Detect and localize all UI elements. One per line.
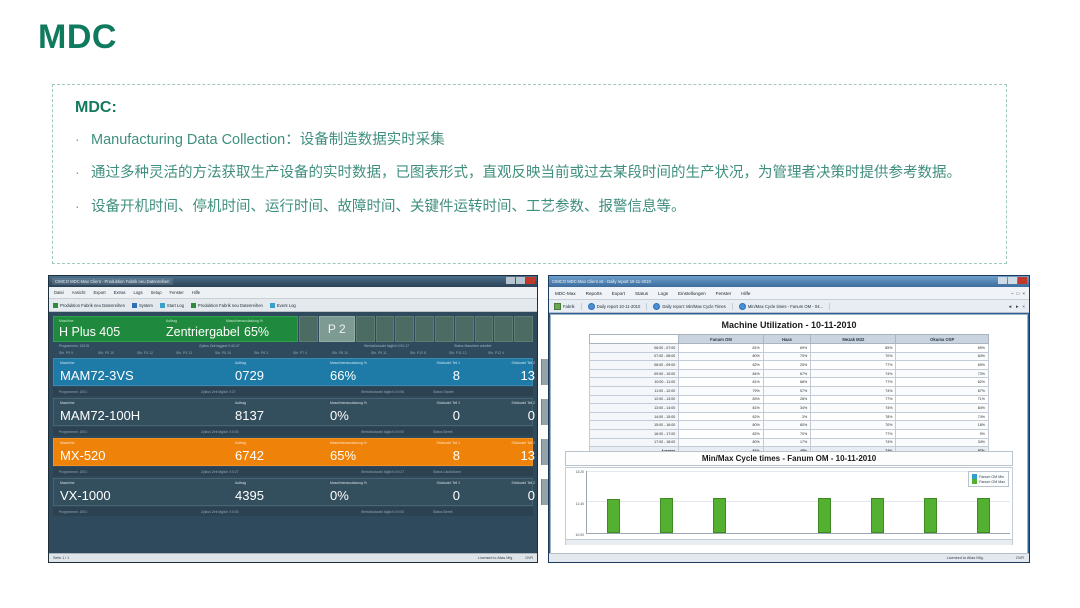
bar-series (587, 471, 1010, 533)
table-cell: 69% (763, 344, 811, 353)
caption-part1: Stückzahl Teil 1 (437, 481, 461, 485)
table-cell: 84% (896, 352, 989, 361)
tick-label-row: Sth. P9 9 Sth. P0 10 Sth. P3 12 Sth. P4 … (53, 349, 533, 356)
bar (660, 498, 673, 533)
info-pieces: Werkstückzahl täglich 0:0:00 (361, 510, 433, 514)
info-program: Programmnr. 1001 (59, 470, 201, 474)
table-cell: 9% (896, 429, 989, 438)
value-utilization: 0% (330, 489, 349, 502)
tick-label: Sth. P12 4 (488, 351, 527, 355)
left-window-controls[interactable] (506, 277, 535, 284)
blue-square-icon (132, 303, 137, 308)
value-machine: MX-520 (60, 449, 106, 462)
status-cell (514, 316, 533, 342)
table-row: 10:00 - 11:0081%68%77%82% (590, 378, 989, 387)
status-left: Seite 1 / 1 (53, 556, 69, 560)
chart-title: Min/Max Cycle times - Fanum OM - 10-11-2… (565, 451, 1013, 466)
menu-item-export[interactable]: Export (94, 290, 106, 295)
left-menubar[interactable]: Datei Ansicht Export Extras Logs Setup F… (49, 287, 537, 299)
bullet-item: · 通过多种灵活的方法获取生产设备的实时数据，已图表形式，直观反映当前或过去某段… (75, 162, 986, 184)
menu-item-setup[interactable]: Setup (151, 290, 162, 295)
mdi-window-controls[interactable]: – □ × (1011, 291, 1025, 296)
tab-label: Daily report 10-11-2010 (597, 304, 641, 309)
bar-slot (904, 471, 957, 533)
tab-label: Daily report: Min/Max Cycle Times (662, 304, 726, 309)
table-cell: 85% (811, 344, 896, 353)
table-cell: 34% (896, 438, 989, 447)
caption-part1: Stückzahl Teil 1 (437, 401, 461, 405)
tick-label: Sth. P10 8 (410, 351, 449, 355)
table-cell: 82% (679, 412, 763, 421)
row-time-label: 06:00 - 07:00 (590, 344, 679, 353)
y-tick: 13:20 (576, 470, 585, 474)
right-window-titlebar: CIMCO MDC-Max Client x6 - Daily report 1… (549, 276, 1029, 287)
caption-util: Maschinenauslastung % (226, 319, 263, 323)
menu-item-extras[interactable]: Extras (114, 290, 126, 295)
cell-utilization: Maschinenauslastung % 66% (324, 359, 454, 385)
machine-info-row: Programmnr. 1001 Zyklus Zeit täglich 0:0… (53, 467, 533, 476)
cell-part1: Stückzahl Teil 1 8 (454, 439, 466, 465)
bar (818, 498, 831, 533)
status-cell (376, 316, 395, 342)
mdi-close-icon[interactable]: × (1022, 291, 1025, 296)
menu-item-reports[interactable]: Reports (586, 291, 602, 296)
table-cell: 84% (679, 369, 763, 378)
tick-label: Sth. P0 10 (98, 351, 137, 355)
caption-part2: Stückzahl Teil 2 (512, 361, 536, 365)
caption-part2: Stückzahl Teil 2 (512, 441, 536, 445)
legend-swatch-max-icon (972, 479, 977, 484)
report-icon (653, 303, 660, 310)
program-badge: P 2 (319, 316, 355, 342)
brand-logo: MDC (38, 18, 117, 57)
toolbar-tab-production-2[interactable]: Produktion Fabrik neu Datenreihen (191, 303, 263, 308)
right-screenshot: CIMCO MDC-Max Client x6 - Daily report 1… (548, 275, 1030, 563)
machine-row[interactable]: Maschine VX-1000 Auftrag 4395 Maschinena… (53, 478, 533, 506)
caption-part2: Stückzahl Teil 2 (512, 481, 536, 485)
chart-legend: Fanum OM Min Fanum OM Max (968, 471, 1009, 487)
green-square-icon (191, 303, 196, 308)
table-cell: 74% (896, 412, 989, 421)
close-icon[interactable] (526, 277, 535, 284)
col-header-haas: Haas (763, 335, 811, 344)
caption-part1: Stückzahl Teil 1 (437, 361, 461, 365)
col-header-mezak: Mezak M32 (811, 335, 896, 344)
col-header-fanum: Fanum OM (679, 335, 763, 344)
table-row: 16:00 - 17:0082%70%77%9% (590, 429, 989, 438)
y-axis: 13:20 11:40 10:00 (566, 468, 586, 544)
info-status: Status Startet (433, 390, 454, 394)
menu-item-hilfe[interactable]: Hilfe (741, 291, 750, 296)
cell-machine: Maschine VX-1000 (54, 479, 229, 505)
table-cell: 84% (896, 404, 989, 413)
bar-slot (746, 471, 799, 533)
toolbar-label: Produktion Fabrik neu Datenreihen (60, 303, 125, 308)
value-part1: 8 (453, 449, 460, 462)
left-toolbar[interactable]: Produktion Fabrik neu Datenreihen System… (49, 299, 537, 312)
green-square-icon (53, 303, 58, 308)
caption-part2: Stückzahl Teil 2 (512, 401, 536, 405)
info-program: Programmnr. 1001 (59, 390, 201, 394)
tab-daily-report[interactable]: Daily report 10-11-2010 (588, 303, 648, 310)
bullet-text: 通过多种灵活的方法获取生产设备的实时数据，已图表形式，直观反映当前或过去某段时间… (91, 162, 986, 184)
table-row: 12:00 - 13:0083%28%77%71% (590, 395, 989, 404)
col-header-okuma: Okuma OSP (896, 335, 989, 344)
plot-area (586, 471, 1010, 534)
bar (871, 498, 884, 533)
table-cell: 57% (763, 386, 811, 395)
left-window-title: CIMCO MDC-Max Client - Produktion Fabrik… (52, 278, 173, 285)
machine-info-row: Programmnr. 1001 Zyklus Zeit täglich 0:0… (53, 507, 533, 516)
bar (607, 499, 620, 533)
row-time-label: 16:00 - 17:00 (590, 429, 679, 438)
minimize-icon[interactable] (506, 277, 515, 284)
right-window-controls[interactable] (998, 277, 1027, 284)
menu-item-ansicht[interactable]: Ansicht (72, 290, 86, 295)
cell-machine: Maschine MAM72-100H (54, 399, 229, 425)
table-cell: 68% (763, 378, 811, 387)
value-machine: MAM72-100H (60, 409, 140, 422)
table-cell: 74% (811, 438, 896, 447)
table-cell: 77% (811, 378, 896, 387)
caption-order: Auftrag (235, 441, 246, 445)
cell-order: Auftrag 0729 (229, 359, 324, 385)
table-row: 06:00 - 07:0081%69%85%69% (590, 344, 989, 353)
status-cell (299, 316, 318, 342)
caption-order: Auftrag (235, 361, 246, 365)
table-cell: 60% (763, 421, 811, 430)
table-cell: 73% (896, 369, 989, 378)
tab-label: Min/Max Cycle times - Fanum OM - 04... (748, 304, 823, 309)
tab-close-icon[interactable]: × (1022, 304, 1025, 309)
table-cell: 70% (763, 429, 811, 438)
info-cycle: Zyklus Zeit täglich 0:37 (201, 390, 361, 394)
maximize-icon[interactable] (516, 277, 525, 284)
table-cell: 74% (811, 369, 896, 378)
machine-header-cell: Maschine Auftrag Maschinenauslastung % H… (53, 316, 298, 342)
bar-slot (851, 471, 904, 533)
menu-item-fenster[interactable]: Fenster (716, 291, 732, 296)
caption-util: Maschinenauslastung % (330, 361, 367, 365)
value-part2: 13 (521, 449, 535, 462)
table-cell: 34% (763, 404, 811, 413)
cell-order: Auftrag 8137 (229, 399, 324, 425)
cell-part1: Stückzahl Teil 1 8 (454, 359, 466, 385)
mdi-restore-icon[interactable]: □ (1017, 291, 1020, 296)
legend-label: Fanum OM Max (979, 480, 1005, 484)
row-time-label: 11:00 - 12:00 (590, 386, 679, 395)
status-cell (455, 316, 474, 342)
caption-machine: Maschine (59, 319, 74, 323)
bullet-marker: · (75, 129, 91, 151)
tick-label: Sth. P11 12 (449, 351, 488, 355)
table-cell: 81% (679, 344, 763, 353)
menu-item-export[interactable]: Export (612, 291, 625, 296)
table-cell: 77% (811, 429, 896, 438)
bar-slot (587, 471, 640, 533)
bar (924, 498, 937, 533)
header-subinfo-row: Programmnr. 10015 Zyklus Zeit laggest 0:… (53, 342, 533, 349)
cell-machine: Maschine MX-520 (54, 439, 229, 465)
tick-label: Sth. P4 13 (176, 351, 215, 355)
col-header-time (590, 335, 679, 344)
value-part1: 8 (453, 369, 460, 382)
machine-row[interactable]: Maschine MAM72-3VS Auftrag 0729 Maschine… (53, 358, 533, 386)
table-body: 06:00 - 07:0081%69%85%69%07:00 - 08:0080… (590, 344, 989, 456)
info-cycle: Zyklus Zeit täglich 0:0:00 (201, 430, 361, 434)
table-cell: 71% (896, 395, 989, 404)
table-cell: 18% (896, 421, 989, 430)
table-cell: 78% (811, 412, 896, 421)
value-machine: VX-1000 (60, 489, 111, 502)
tick-label: Sth. P9 11 (371, 351, 410, 355)
table-cell: 70% (763, 352, 811, 361)
table-cell: 69% (896, 344, 989, 353)
chart-icon (160, 303, 165, 308)
info-pieces: Werkstückzahl täglich 0:0:27 (361, 470, 433, 474)
table-cell: 80% (679, 421, 763, 430)
info-program: Programmnr. 1001 (59, 510, 201, 514)
info-status: Status Läuft/Alarm (433, 470, 461, 474)
caption-machine: Maschine (60, 441, 75, 445)
report-canvas: Machine Utilization - 10-11-2010 Fanum O… (550, 314, 1028, 558)
table-cell: 77% (811, 361, 896, 370)
table-cell: 80% (679, 438, 763, 447)
chart-plot: 13:20 11:40 10:00 Fanum OM Min (565, 467, 1013, 545)
tab-fabrik[interactable]: Fabrik (554, 303, 582, 310)
value-part2: 13 (521, 369, 535, 382)
row-time-label: 08:00 - 09:00 (590, 361, 679, 370)
table-cell: 77% (811, 395, 896, 404)
table-cell: 80% (679, 352, 763, 361)
row-time-label: 12:00 - 13:00 (590, 395, 679, 404)
cell-part2: Stückzahl Teil 2 0 (466, 479, 541, 505)
left-screenshot: CIMCO MDC-Max Client - Produktion Fabrik… (48, 275, 538, 563)
table-cell: 17% (763, 438, 811, 447)
bullet-item: · Manufacturing Data Collection：设备制造数据实时… (75, 129, 986, 151)
table-row: 13:00 - 14:0081%34%74%84% (590, 404, 989, 413)
report-icon (588, 303, 595, 310)
row-time-label: 09:00 - 10:00 (590, 369, 679, 378)
machine-row[interactable]: Maschine MAM72-100H Auftrag 8137 Maschin… (53, 398, 533, 426)
tick-label: Sth. P9 9 (59, 351, 98, 355)
caption-util: Maschinenauslastung % (330, 441, 367, 445)
content-textbox: MDC: · Manufacturing Data Collection：设备制… (52, 84, 1007, 264)
row-time-label: 17:00 - 18:00 (590, 438, 679, 447)
caption-machine: Maschine (60, 401, 75, 405)
status-cell (494, 316, 513, 342)
menu-item-einstellungen[interactable]: Einstellungen (678, 291, 706, 296)
menu-item-fenster[interactable]: Fenster (170, 290, 184, 295)
toolbar-tab-system[interactable]: System (132, 303, 153, 308)
header-machine-name: H Plus 405 (59, 326, 120, 339)
table-cell: 67% (896, 386, 989, 395)
status-mode: OVR (525, 556, 533, 560)
status-mode: OVR (1016, 556, 1024, 560)
y-tick: 11:40 (576, 502, 584, 506)
cell-order: Auftrag 4395 (229, 479, 324, 505)
status-license: Licensed to Atlas Mfg. (947, 556, 984, 560)
table-cell: 82% (896, 378, 989, 387)
table-cell: 67% (763, 369, 811, 378)
bullet-marker: · (75, 162, 91, 184)
menu-item-logs[interactable]: Logs (658, 291, 668, 296)
info-pieces: Werkstückzahl täglich 0:0:00 (361, 430, 433, 434)
tab-navigation[interactable]: ◄ ► × (1008, 304, 1025, 309)
value-utilization: 65% (330, 449, 356, 462)
table-cell: 69% (896, 361, 989, 370)
chart-horizontal-scrollbar[interactable] (566, 539, 1012, 545)
caption-machine: Maschine (60, 361, 75, 365)
table-header-row: Fanum OM Haas Mezak M32 Okuma OSP (590, 335, 989, 344)
right-tabbar[interactable]: Fabrik Daily report 10-11-2010 Daily rep… (549, 299, 1029, 313)
table-cell: 28% (763, 395, 811, 404)
tab-daily-report-minmax[interactable]: Daily report: Min/Max Cycle Times (653, 303, 733, 310)
value-utilization: 0% (330, 409, 349, 422)
cell-part1: Stückzahl Teil 1 0 (454, 479, 466, 505)
table-cell: 70% (811, 421, 896, 430)
caption-util: Maschinenauslastung % (330, 401, 367, 405)
bullet-text: Manufacturing Data Collection：设备制造数据实时采集 (91, 129, 986, 151)
table-row: 09:00 - 10:0084%67%74%73% (590, 369, 989, 378)
right-menubar[interactable]: MDC-Max Reports Export Status Logs Einst… (549, 287, 1029, 299)
value-part1: 0 (453, 489, 460, 502)
header-pieces: Werkstückzahl täglich 0:51:17 (364, 344, 454, 348)
toolbar-label: Produktion Fabrik neu Datenreihen (198, 303, 263, 308)
maximize-icon[interactable] (1008, 277, 1017, 284)
close-icon[interactable] (1018, 277, 1027, 284)
bar-slot (693, 471, 746, 533)
row-time-label: 10:00 - 11:00 (590, 378, 679, 387)
value-order: 4395 (235, 489, 264, 502)
row-time-label: 07:00 - 08:00 (590, 352, 679, 361)
cell-utilization: Maschinenauslastung % 0% (324, 399, 454, 425)
folder-icon (554, 303, 561, 310)
tick-label: Sth. P6 3 (254, 351, 293, 355)
status-license: Licensed to Atlas Mfg. (478, 556, 513, 560)
toolbar-label: Event Log (277, 303, 296, 308)
bar (713, 498, 726, 533)
cell-machine: Maschine MAM72-3VS (54, 359, 229, 385)
caption-part1: Stückzahl Teil 1 (437, 441, 461, 445)
menu-item-hilfe[interactable]: Hilfe (192, 290, 200, 295)
left-statusbar: Seite 1 / 1 Licensed to Atlas Mfg. OVR (49, 553, 537, 562)
tick-label: Sth. P3 12 (137, 351, 176, 355)
menu-item-status[interactable]: Status (635, 291, 648, 296)
textbox-title: MDC: (75, 99, 986, 117)
caption-util: Maschinenauslastung % (330, 481, 367, 485)
cell-part1: Stückzahl Teil 1 0 (454, 399, 466, 425)
minimize-icon[interactable] (998, 277, 1007, 284)
cell-utilization: Maschinenauslastung % 0% (324, 479, 454, 505)
toolbar-tab-eventlog[interactable]: Event Log (270, 303, 296, 308)
header-status: Status Maschine arbeitet (454, 344, 491, 348)
tick-label: Sth. P8 10 (332, 351, 371, 355)
table-row: 17:00 - 18:0080%17%74%34% (590, 438, 989, 447)
bullet-text: 设备开机时间、停机时间、运行时间、故障时间、关键件运转时间、工艺参数、报警信息等… (91, 196, 986, 218)
toolbar-tab-startlog[interactable]: Start Log (160, 303, 184, 308)
table-cell: 81% (679, 378, 763, 387)
left-window-titlebar: CIMCO MDC-Max Client - Produktion Fabrik… (49, 276, 537, 287)
chart-icon (270, 303, 275, 308)
toolbar-label: System (139, 303, 153, 308)
cell-utilization: Maschinenauslastung % 65% (324, 439, 454, 465)
table-row: 07:00 - 08:0080%70%70%84% (590, 352, 989, 361)
table-row: 08:00 - 09:0082%25%77%69% (590, 361, 989, 370)
table-cell: 25% (763, 361, 811, 370)
status-cell (415, 316, 434, 342)
tab-minmax-cycle-times[interactable]: Min/Max Cycle times - Fanum OM - 04... (739, 303, 830, 310)
table-cell: 79% (679, 386, 763, 395)
table-cell: 70% (811, 352, 896, 361)
info-status: Status Bereit (433, 510, 452, 514)
legend-item-max: Fanum OM Max (972, 479, 1005, 484)
table-cell: 82% (679, 361, 763, 370)
cell-order: Auftrag 6742 (229, 439, 324, 465)
machine-info-row: Programmnr. 1001 Zyklus Zeit täglich 0:3… (53, 387, 533, 396)
table-cell: 82% (679, 429, 763, 438)
info-program: Programmnr. 1001 (59, 430, 201, 434)
machine-row[interactable]: Maschine MX-520 Auftrag 6742 Maschinenau… (53, 438, 533, 466)
menu-item-logs[interactable]: Logs (134, 290, 143, 295)
info-pieces: Werkstückzahl täglich 0:0:56 (361, 390, 433, 394)
header-util-value: 65% (244, 326, 269, 339)
value-order: 0729 (235, 369, 264, 382)
value-order: 8137 (235, 409, 264, 422)
report-icon (739, 303, 746, 310)
header-program: Programmnr. 10015 (59, 344, 199, 348)
row-time-label: 14:00 - 15:00 (590, 412, 679, 421)
status-cell (395, 316, 414, 342)
cell-part2: Stückzahl Teil 2 13 (466, 359, 541, 385)
bar (977, 498, 990, 533)
machine-header-row[interactable]: Maschine Auftrag Maschinenauslastung % H… (53, 316, 533, 342)
bullet-marker: · (75, 196, 91, 218)
left-window-body: Maschine Auftrag Maschinenauslastung % H… (49, 312, 537, 516)
tab-next-icon[interactable]: ► (1015, 304, 1019, 309)
info-cycle: Zyklus Zeit täglich 0:0:00 (201, 510, 361, 514)
status-cell (435, 316, 454, 342)
value-part2: 0 (528, 409, 535, 422)
menu-item-mdcmax[interactable]: MDC-Max (555, 291, 576, 296)
toolbar-tab-production[interactable]: Produktion Fabrik neu Datenreihen (53, 303, 125, 308)
tab-prev-icon[interactable]: ◄ (1008, 304, 1012, 309)
table-row: 11:00 - 12:0079%57%74%67% (590, 386, 989, 395)
machine-info-row: Programmnr. 1001 Zyklus Zeit täglich 0:0… (53, 427, 533, 436)
machine-utilization-table: Fanum OM Haas Mezak M32 Okuma OSP 06:00 … (589, 334, 989, 456)
value-order: 6742 (235, 449, 264, 462)
right-statusbar: Licensed to Atlas Mfg. OVR (549, 553, 1029, 562)
row-time-label: 15:00 - 16:00 (590, 421, 679, 430)
table-cell: 83% (679, 395, 763, 404)
bullet-item: · 设备开机时间、停机时间、运行时间、故障时间、关键件运转时间、工艺参数、报警信… (75, 196, 986, 218)
info-status: Status Bereit (433, 430, 452, 434)
table-cell: 81% (679, 404, 763, 413)
status-cell (356, 316, 375, 342)
tick-label: Sth. P5 15 (215, 351, 254, 355)
tick-label: Sth. P7 4 (293, 351, 332, 355)
table-cell: 74% (811, 386, 896, 395)
utilization-report-title: Machine Utilization - 10-11-2010 (551, 315, 1027, 334)
value-part2: 0 (528, 489, 535, 502)
menu-item-datei[interactable]: Datei (54, 290, 64, 295)
status-cell (475, 316, 494, 342)
row-time-label: 13:00 - 14:00 (590, 404, 679, 413)
header-order-name: Zentriergabel (166, 326, 240, 339)
caption-order: Auftrag (235, 481, 246, 485)
cell-part2: Stückzahl Teil 2 0 (466, 399, 541, 425)
mdi-minimize-icon[interactable]: – (1011, 291, 1014, 296)
